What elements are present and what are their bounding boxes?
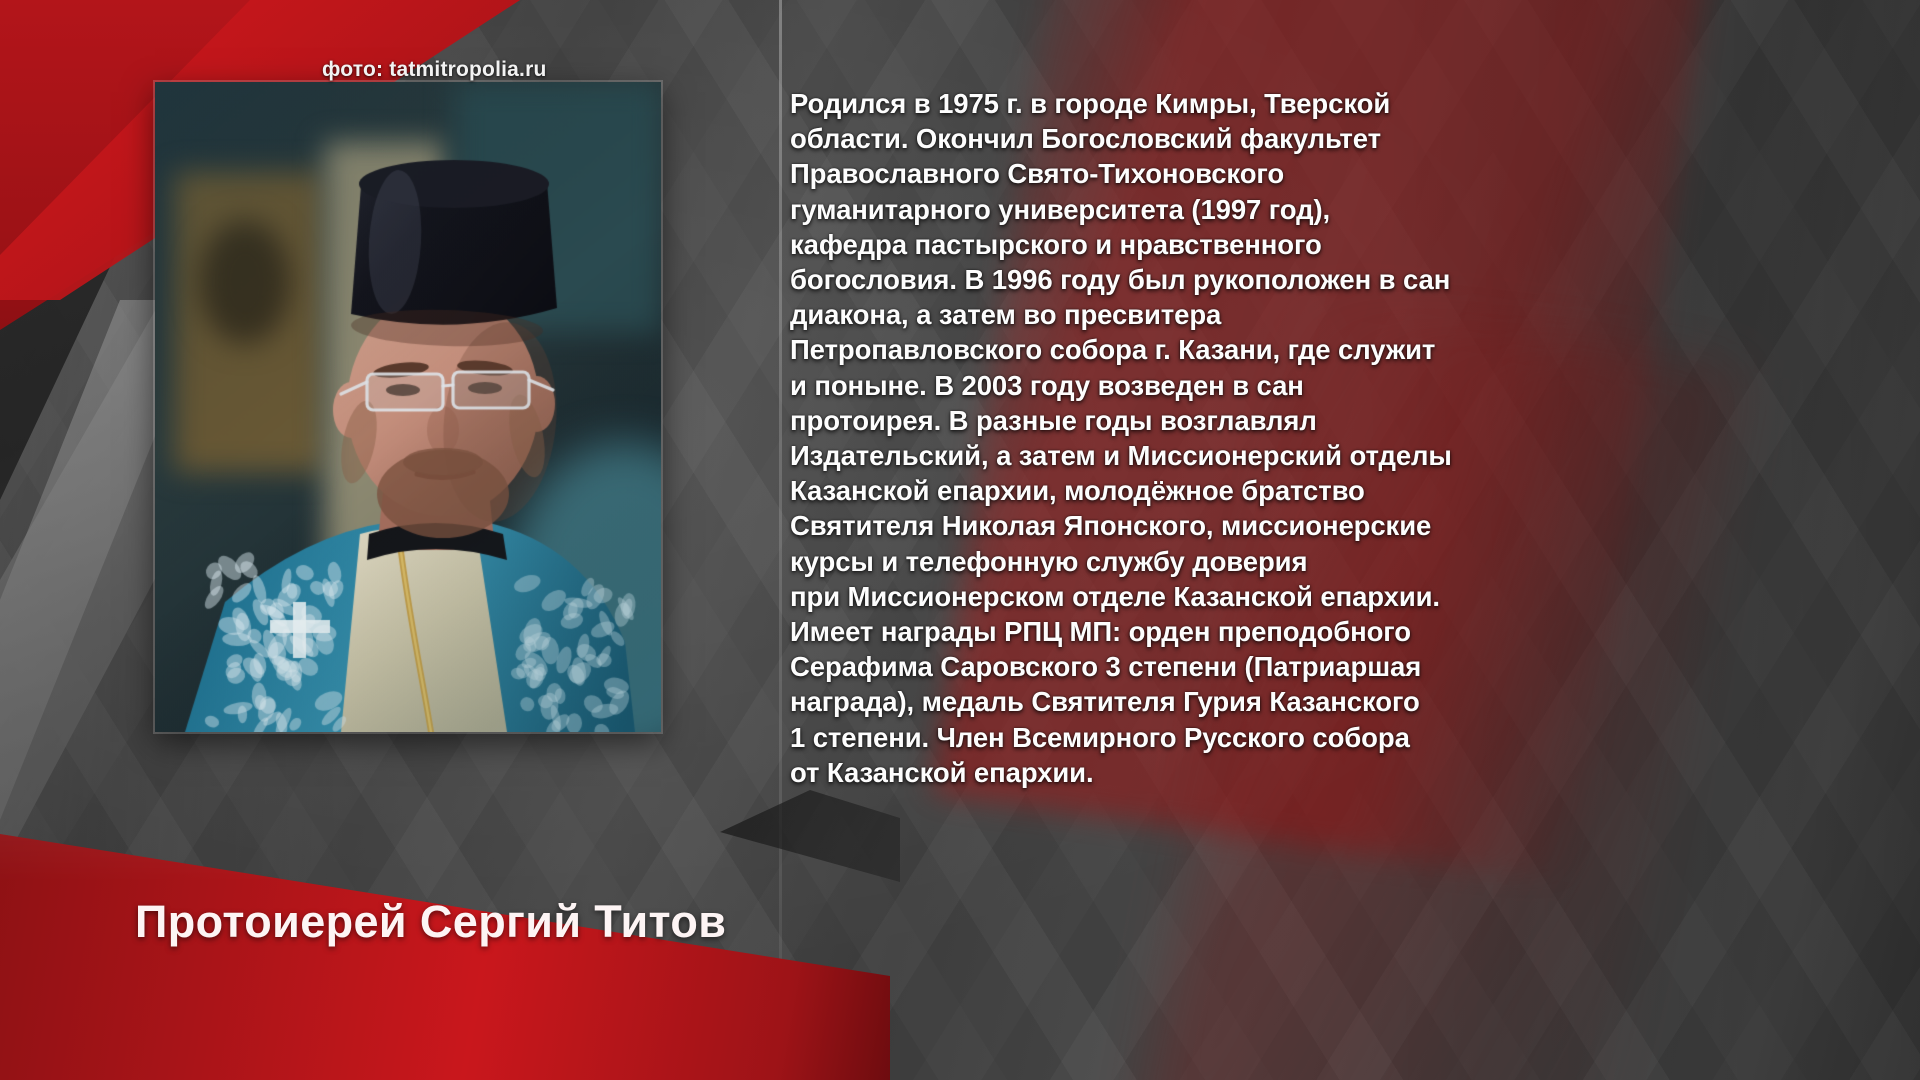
portrait-photo-image	[155, 82, 661, 732]
column-divider	[779, 0, 782, 1080]
person-name: Протоиерей Сергий Титов	[135, 896, 726, 948]
photo-credit: фото: tatmitropolia.ru	[322, 58, 546, 82]
biography-text: Родился в 1975 г. в городе Кимры, Тверск…	[790, 86, 1510, 790]
bio-card-graphic: фото: tatmitropolia.ru Протоиерей Сергий…	[0, 0, 1920, 1080]
portrait-photo	[155, 82, 661, 732]
